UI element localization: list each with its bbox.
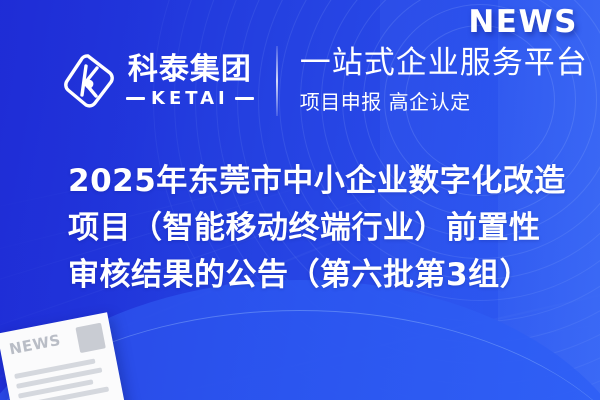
logo-text-block: 科泰集团 KETAI <box>126 55 254 108</box>
banner-header: 科泰集团 KETAI 一站式企业服务平台 项目申报 高企认定 <box>0 40 600 122</box>
news-banner: NEWS 科泰集团 KETAI 一站式企业 <box>0 0 600 400</box>
tagline-block: 一站式企业服务平台 项目申报 高企认定 <box>300 47 588 115</box>
logo-dash-right <box>235 97 254 100</box>
page-title: 2025年东莞市中小企业数字化改造项目（智能移动终端行业）前置性审核结果的公告（… <box>68 158 568 299</box>
logo-dash-left <box>126 97 145 100</box>
company-logo: 科泰集团 KETAI <box>62 51 254 111</box>
tagline-sub: 项目申报 高企认定 <box>300 86 588 115</box>
news-wordmark: NEWS <box>468 4 578 40</box>
header-divider <box>276 46 278 116</box>
ketai-diamond-monogram-icon <box>62 51 118 111</box>
newspaper-heading: NEWS <box>8 331 63 359</box>
image-placeholder-icon <box>75 323 105 353</box>
newspaper-illustration: NEWS <box>0 312 127 400</box>
logo-name-en-row: KETAI <box>126 90 254 108</box>
logo-name-cn: 科泰集团 <box>128 55 252 85</box>
logo-name-en: KETAI <box>151 90 229 108</box>
tagline-main: 一站式企业服务平台 <box>300 47 588 80</box>
